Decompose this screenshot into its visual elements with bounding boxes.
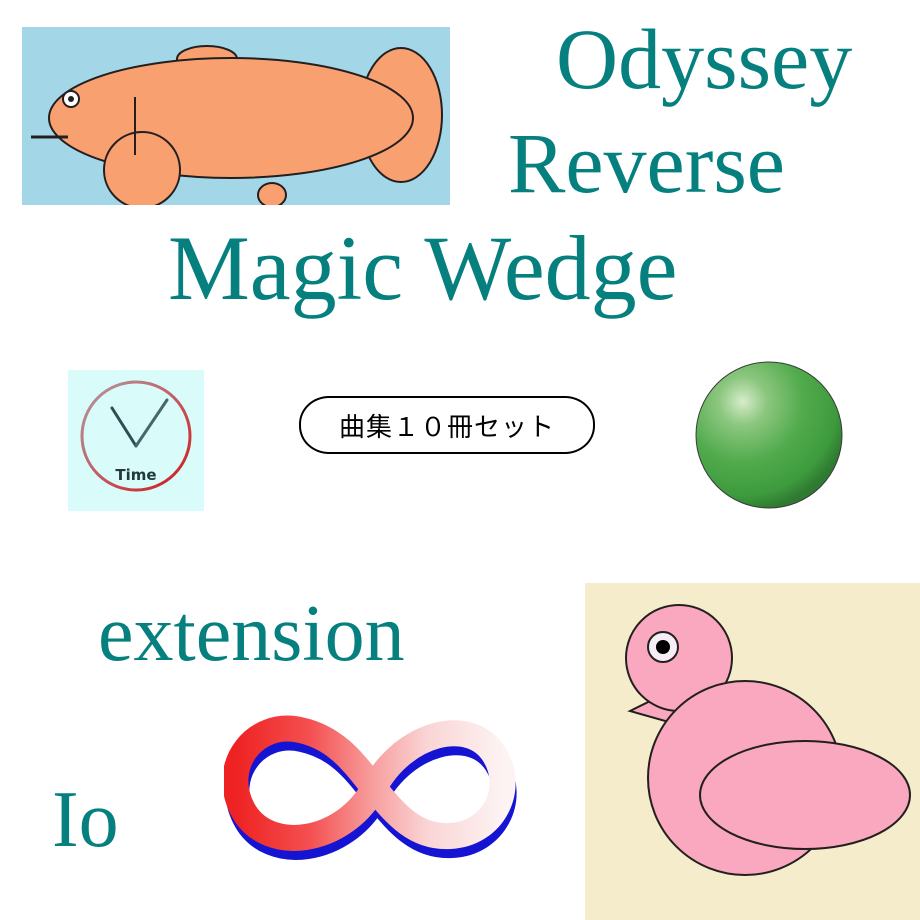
green-sphere-svg [694,360,844,510]
japanese-label-text: 曲集１０冊セット [339,407,555,444]
label-reverse: Reverse [508,120,785,206]
bird-eye-pupil [656,640,670,654]
clock-hour-hand [112,408,136,446]
clock-label: Time [115,466,156,484]
bird-illustration-panel [585,583,920,920]
bird-wing [700,741,910,849]
infinity-ribbon [224,706,529,876]
japanese-label-box[interactable]: 曲集１０冊セット [299,396,595,454]
label-io: Io [52,780,119,860]
label-extension: extension [98,594,405,674]
clock-illustration-panel: Time [68,370,204,511]
sphere-shape [696,362,842,508]
fish-ventral-fin [258,183,286,205]
fish-eye-pupil [68,96,74,102]
infinity-svg [224,706,529,876]
label-odyssey: Odyssey [556,16,852,102]
fish-pectoral-fin [104,132,180,205]
fish-body [49,58,413,178]
bird-svg [585,583,920,920]
fish-illustration-panel [22,27,450,205]
clock-minute-hand [136,400,167,446]
collage-canvas: Odyssey Reverse Magic Wedge extension Io… [0,0,920,920]
fish-svg [22,27,450,205]
label-magic-wedge: Magic Wedge [168,222,678,314]
green-sphere [694,360,844,510]
clock-svg: Time [68,370,204,511]
